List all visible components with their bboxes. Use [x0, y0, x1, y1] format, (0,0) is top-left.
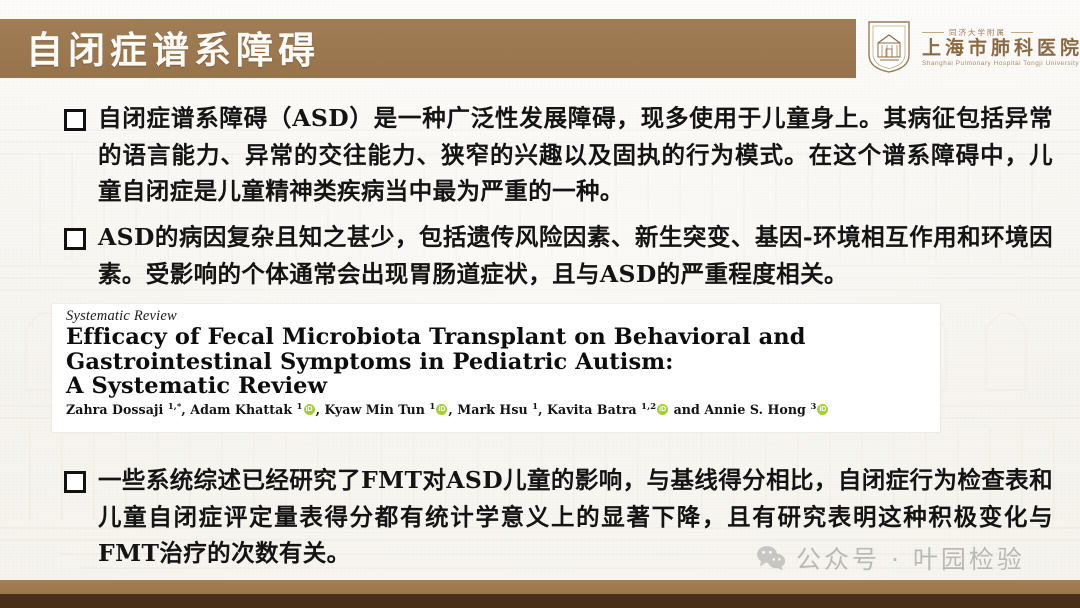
paper-author-name: Adam Khattak — [190, 402, 296, 417]
paper-author-affiliation: 3 — [810, 402, 816, 412]
paper-title: Efficacy of Fecal Microbiota Transplant … — [66, 325, 926, 399]
author-separator: , — [181, 402, 190, 417]
paper-title-line-2: Gastrointestinal Symptoms in Pediatric A… — [66, 350, 926, 375]
footer-dark-bar — [0, 594, 1080, 608]
author-separator: , — [538, 402, 547, 417]
paper-title-line-3: A Systematic Review — [66, 374, 926, 399]
paper-title-line-1: Efficacy of Fecal Microbiota Transplant … — [66, 325, 926, 350]
paper-author-list: Zahra Dossaji 1,*, Adam Khattak 1, Kyaw … — [66, 402, 936, 417]
paper-author-name: Mark Hsu — [457, 402, 532, 417]
author-separator: and — [669, 402, 704, 417]
hospital-crest-icon — [866, 19, 912, 75]
watermark-text: 公众号 · 叶园检验 — [796, 540, 1025, 576]
wechat-watermark: 公众号 · 叶园检验 — [756, 540, 1025, 576]
presentation-slide: 自闭症谱系障碍 同济大学附属 上海市肺科医院 Shanghai Pulmonar… — [0, 0, 1080, 608]
bullet-text: ASD的病因复杂且知之甚少，包括遗传风险因素、新生突变、基因-环境相互作用和环境… — [98, 219, 1053, 292]
paper-author-affiliation: 1,* — [168, 402, 182, 412]
page-title: 自闭症谱系障碍 — [26, 24, 586, 76]
paper-author-name: Kyaw Min Tun — [324, 402, 429, 417]
paper-author-name: Kavita Batra — [547, 402, 641, 417]
bullet-text: 自闭症谱系障碍（ASD）是一种广泛性发展障碍，现多使用于儿童身上。其病征包括异常… — [98, 100, 1053, 210]
logo-affiliation: 同济大学附属 — [949, 27, 1006, 38]
paper-author-name: Annie S. Hong — [704, 402, 810, 417]
orcid-icon[interactable] — [304, 404, 315, 415]
paper-author-affiliation: 1 — [429, 402, 435, 412]
paper-screenshot-card: Systematic Review Efficacy of Fecal Micr… — [52, 304, 940, 432]
bullet-item: ASD的病因复杂且知之甚少，包括遗传风险因素、新生突变、基因-环境相互作用和环境… — [64, 219, 1054, 292]
wechat-icon — [756, 545, 786, 571]
logo-rule-left — [922, 32, 944, 33]
orcid-icon[interactable] — [657, 404, 668, 415]
orcid-icon[interactable] — [817, 404, 828, 415]
square-bullet-icon — [64, 471, 86, 493]
footer-accent-bar — [0, 580, 1080, 594]
logo-name-en: Shanghai Pulmonary Hospital Tongji Unive… — [922, 60, 1080, 67]
square-bullet-icon — [64, 109, 86, 131]
logo-name-cn: 上海市肺科医院 — [922, 39, 1080, 59]
bullet-item: 自闭症谱系障碍（ASD）是一种广泛性发展障碍，现多使用于儿童身上。其病征包括异常… — [64, 100, 1054, 210]
square-bullet-icon — [64, 228, 86, 250]
paper-author-affiliation: 1,2 — [641, 402, 656, 412]
orcid-icon[interactable] — [436, 404, 447, 415]
author-separator: , — [448, 402, 457, 417]
logo-affiliation-row: 同济大学附属 — [922, 27, 1080, 38]
logo-rule-right — [1011, 32, 1033, 33]
hospital-logo: 同济大学附属 上海市肺科医院 Shanghai Pulmonary Hospit… — [866, 16, 1066, 78]
paper-author-name: Zahra Dossaji — [66, 402, 168, 417]
paper-article-type: Systematic Review — [66, 308, 177, 325]
paper-author-affiliation: 1 — [297, 402, 303, 412]
